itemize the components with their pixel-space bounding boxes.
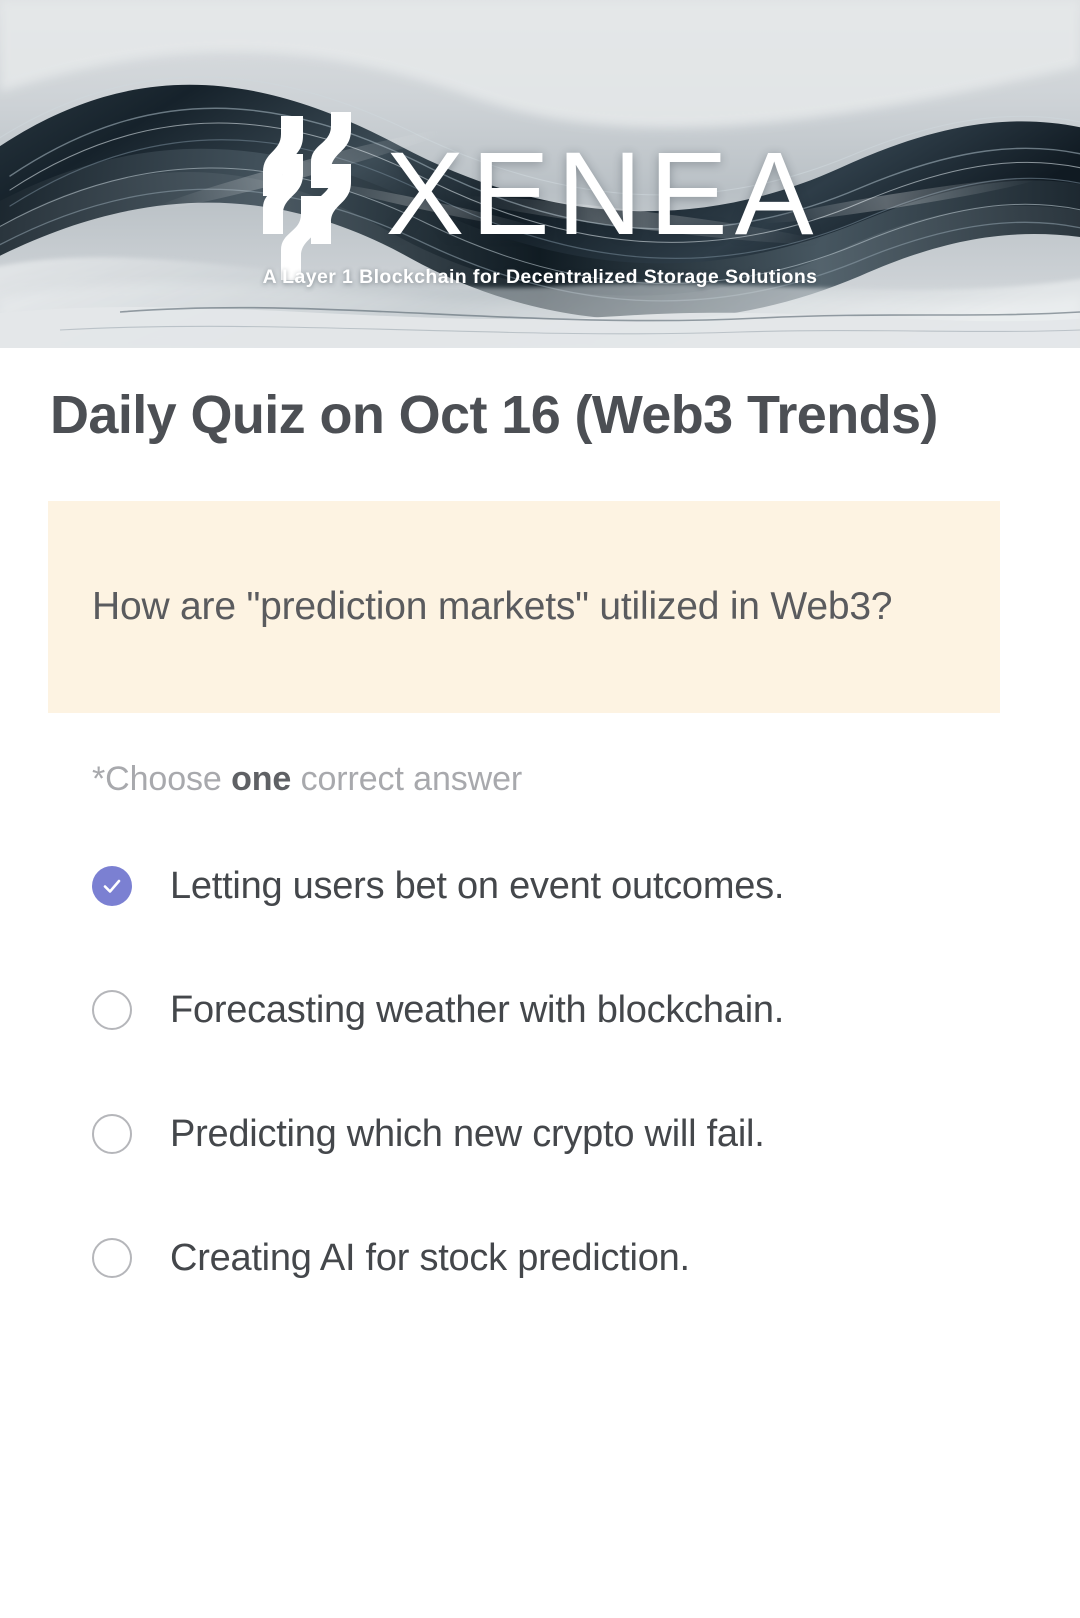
instruction-prefix: *Choose (92, 760, 231, 798)
answer-option-label[interactable]: Letting users bet on event outcomes. (170, 860, 784, 912)
answer-option-label[interactable]: Forecasting weather with blockchain. (170, 984, 784, 1036)
answer-option-label[interactable]: Predicting which new crypto will fail. (170, 1108, 765, 1160)
question-card: How are "prediction markets" utilized in… (48, 501, 1000, 713)
instruction-emphasis: one (231, 760, 291, 798)
quiz-content: Daily Quiz on Oct 16 (Web3 Trends) How a… (0, 348, 1080, 1320)
answer-option-label[interactable]: Creating AI for stock prediction. (170, 1232, 690, 1284)
answer-option[interactable]: Creating AI for stock prediction. (92, 1196, 1040, 1320)
answer-options-list: Letting users bet on event outcomes. For… (0, 824, 1080, 1320)
quiz-page: XENEA A Layer 1 Blockchain for Decentral… (0, 0, 1080, 1618)
answer-option[interactable]: Letting users bet on event outcomes. (92, 824, 1040, 948)
xenea-wave-logo-icon (259, 110, 355, 286)
radio-checked-icon[interactable] (92, 866, 132, 906)
answer-instruction: *Choose one correct answer (92, 760, 1080, 799)
radio-unchecked-icon[interactable] (92, 990, 132, 1030)
answer-option[interactable]: Predicting which new crypto will fail. (92, 1072, 1040, 1196)
page-title: Daily Quiz on Oct 16 (Web3 Trends) (0, 348, 1010, 448)
brand-banner: XENEA A Layer 1 Blockchain for Decentral… (0, 0, 1080, 348)
instruction-suffix: correct answer (291, 760, 522, 798)
brand-wordmark: XENEA (385, 138, 820, 251)
radio-unchecked-icon[interactable] (92, 1114, 132, 1154)
brand-tagline: A Layer 1 Blockchain for Decentralized S… (0, 266, 1080, 289)
question-text: How are "prediction markets" utilized in… (92, 579, 892, 634)
radio-unchecked-icon[interactable] (92, 1238, 132, 1278)
answer-option[interactable]: Forecasting weather with blockchain. (92, 948, 1040, 1072)
brand-lockup: XENEA (0, 104, 1080, 286)
